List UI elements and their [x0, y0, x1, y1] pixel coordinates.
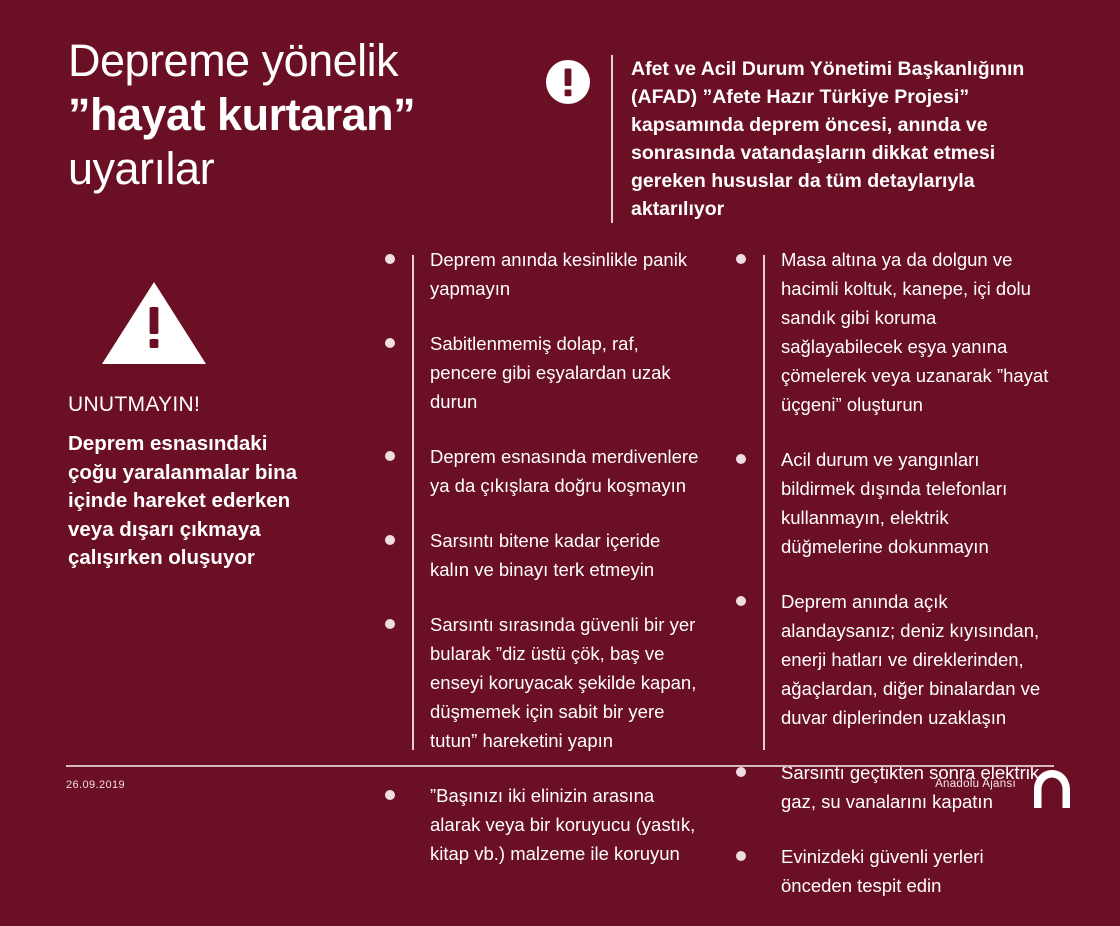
header-note-text: Afet ve Acil Durum Yönetimi Başkanlığını… [631, 55, 1055, 223]
bullet-dot-icon [736, 596, 746, 606]
bullet-dot-icon [736, 254, 746, 264]
list-item-text: Masa altına ya da dolgun ve hacimli kolt… [781, 245, 1053, 419]
list-item-text: Sabitlenmemiş dolap, raf, pencere gibi e… [430, 329, 702, 416]
warning-panel: UNUTMAYIN! Deprem esnasındaki çoğu yaral… [68, 280, 318, 573]
bullet-dot-icon [385, 254, 395, 264]
list-item: Masa altına ya da dolgun ve hacimli kolt… [733, 245, 1053, 419]
list-item: Sarsıntı bitene kadar içeride kalın ve b… [382, 526, 702, 584]
header-note-divider [611, 55, 613, 223]
list-item: Deprem anında kesinlikle panik yapmayın [382, 245, 702, 303]
warning-heading: UNUTMAYIN! [68, 392, 318, 418]
footer-brand-label: Anadolu Ajansı [935, 778, 1016, 790]
list-item-text: Sarsıntı sırasında güvenli bir yer bular… [430, 610, 702, 755]
bullet-dot-icon [736, 851, 746, 861]
bullet-dot-icon [385, 619, 395, 629]
warning-triangle-icon [100, 280, 208, 366]
warning-body: Deprem esnasındaki çoğu yaralanmalar bin… [68, 430, 318, 573]
list-item-text: Deprem anında kesinlikle panik yapmayın [430, 245, 702, 303]
list-item-text: Acil durum ve yangınları bildirmek dışın… [781, 445, 1053, 561]
list-item-text: Deprem anında açık alandaysanız; deniz k… [781, 587, 1053, 732]
title-line-3: uyarılar [68, 142, 528, 196]
list-item: Acil durum ve yangınları bildirmek dışın… [733, 445, 1053, 561]
header-note-paragraph: Afet ve Acil Durum Yönetimi Başkanlığını… [631, 55, 1055, 223]
header: Depreme yönelik ”hayat kurtaran” uyarıla… [0, 0, 1120, 230]
bullet-dot-icon [385, 338, 395, 348]
warning-body-paragraph: Deprem esnasındaki çoğu yaralanmalar bin… [68, 430, 318, 573]
bullet-dot-icon [736, 454, 746, 464]
page-title: Depreme yönelik ”hayat kurtaran” uyarıla… [68, 34, 528, 196]
infographic-page: Depreme yönelik ”hayat kurtaran” uyarıla… [0, 0, 1120, 841]
footer-date: 26.09.2019 [66, 779, 125, 791]
list-item: Evinizdeki güvenli yerleri önceden tespi… [733, 842, 1053, 900]
exclamation-circle-icon [545, 59, 591, 105]
list-item-text: Sarsıntı bitene kadar içeride kalın ve b… [430, 526, 702, 584]
footer-divider [66, 765, 1054, 767]
list-item: Deprem esnasında merdivenlere ya da çıkı… [382, 442, 702, 500]
list-item: Deprem anında açık alandaysanız; deniz k… [733, 587, 1053, 732]
bullet-dot-icon [385, 451, 395, 461]
list-item: Sabitlenmemiş dolap, raf, pencere gibi e… [382, 329, 702, 416]
title-line-1: Depreme yönelik [68, 34, 528, 88]
footer: 26.09.2019 Anadolu Ajansı [0, 755, 1120, 841]
list-item-text: Deprem esnasında merdivenlere ya da çıkı… [430, 442, 702, 500]
list-item-text: Evinizdeki güvenli yerleri önceden tespi… [781, 842, 1053, 900]
header-note: Afet ve Acil Durum Yönetimi Başkanlığını… [545, 55, 1055, 223]
bullet-dot-icon [385, 535, 395, 545]
aa-logo-icon [1030, 767, 1074, 811]
list-item: Sarsıntı sırasında güvenli bir yer bular… [382, 610, 702, 755]
content: UNUTMAYIN! Deprem esnasındaki çoğu yaral… [0, 235, 1120, 755]
title-line-2: ”hayat kurtaran” [68, 88, 528, 142]
